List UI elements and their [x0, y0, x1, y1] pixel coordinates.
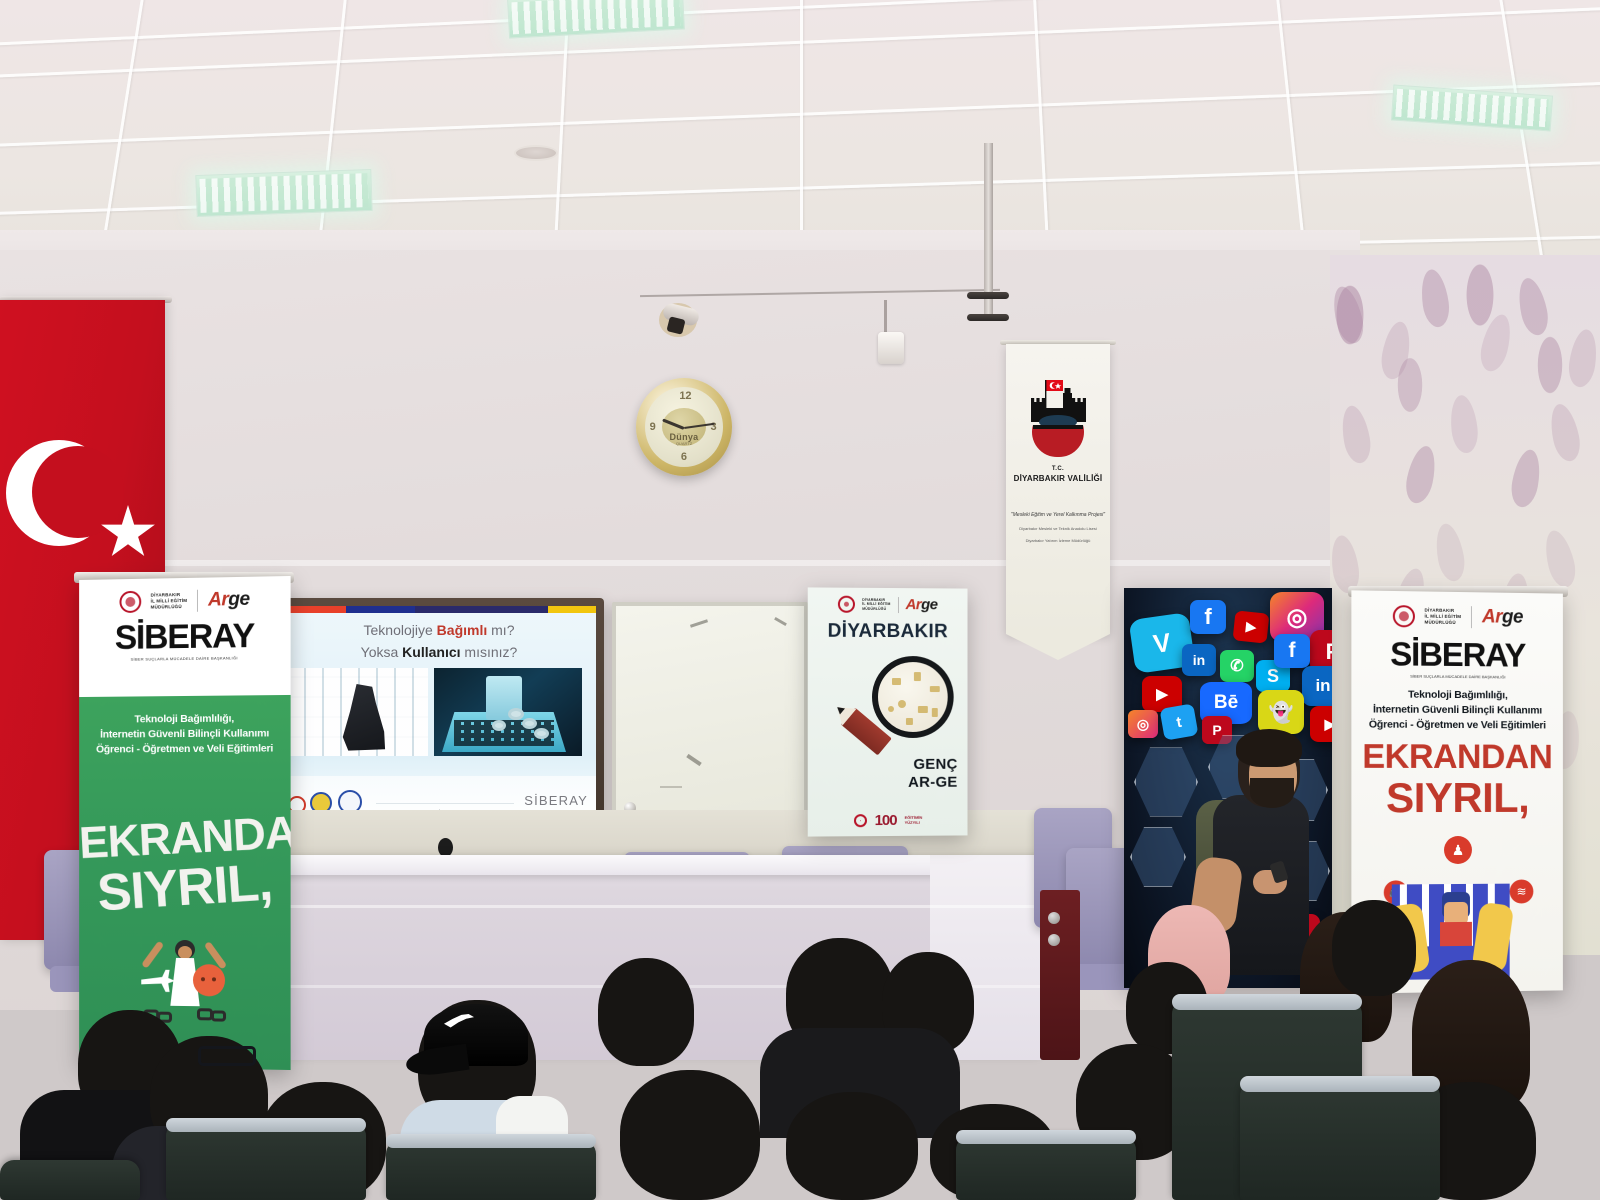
seat-back-6 [0, 1160, 140, 1200]
whatsapp-icon: ✆ [1220, 650, 1254, 682]
meb-seal-icon [838, 596, 855, 613]
pennant-line4: Diyarbakır Yatırım İzleme Müdürlüğü [1010, 538, 1106, 543]
wall-sensor-box [878, 332, 904, 364]
slide-headline-2: Yoksa Kullanıcı mısınız? [282, 644, 596, 660]
clock-numeral-12: 12 [679, 390, 691, 402]
youtube-icon-top: ▶ [1233, 610, 1270, 643]
wall-clock: 12 3 6 9 Dünya QUARTZ [636, 378, 732, 476]
clock-brand-sub: QUARTZ [645, 441, 723, 446]
governorship-pennant: T.C. DİYARBAKIR VALİLİĞİ "Mesleki Eğitim… [1006, 344, 1110, 634]
projector-mount-disc-upper [967, 292, 1009, 299]
linkedin-icon-2: in [1302, 666, 1332, 706]
pennant-title: DİYARBAKIR VALİLİĞİ [1006, 474, 1110, 483]
banner-mid-logo-row: DİYARBAKIR İL MİLLİ EĞİTİM MÜDÜRLÜĞÜ Arg… [808, 595, 968, 613]
seat-rim-2 [386, 1134, 596, 1148]
slide-headline-1: Teknolojiye Bağımlı mı? [282, 622, 596, 638]
meb-seal-icon [119, 591, 141, 613]
seat-back-5 [956, 1136, 1136, 1200]
pennant-motto: "Mesleki Eğitim ve Yerel Kalkınma Projes… [1010, 512, 1106, 518]
orange-blob-icon [193, 964, 225, 996]
facebook-icon: f [1190, 600, 1226, 634]
chain-link-3 [534, 728, 549, 739]
seat-back-2 [386, 1140, 596, 1200]
facebook-icon-2: f [1274, 634, 1310, 668]
footer-rule [376, 803, 514, 804]
meb-seal-icon-small [854, 814, 867, 827]
banner-right-brand-sub: SİBER SUÇLARLA MÜCADELE DAİRE BAŞKANLIĞI [1351, 673, 1562, 680]
twitter-icon: t [1159, 703, 1198, 740]
chain-link-1 [508, 708, 524, 720]
banner-mid-footer: 100 EĞİTİMİNYÜZYILI [808, 812, 968, 830]
person-badge-icon: ♟ [1444, 836, 1472, 864]
ceiling-lamp-2 [507, 0, 685, 39]
banner-mid-city: DİYARBAKIR [808, 621, 968, 644]
presenter-beard [1250, 778, 1294, 808]
centenary-text: EĞİTİMİNYÜZYILI [905, 815, 923, 825]
slide-accent-bar [282, 606, 596, 613]
seated-person-illustration [340, 684, 386, 752]
ceiling-speaker [514, 145, 558, 161]
magnifying-glass-icon [872, 656, 954, 738]
seat-back-4 [1240, 1082, 1440, 1200]
clock-numeral-6: 6 [681, 451, 687, 463]
presentation-slide: Teknolojiye Bağımlı mı? Yoksa Kullanıcı … [282, 606, 596, 820]
ministry-text: DİYARBAKIR İL MİLLİ EĞİTİM MÜDÜRLÜĞÜ [151, 592, 187, 611]
banner-right-headline-2: SIYRIL, [1351, 774, 1562, 822]
clock-brand: Dünya [645, 432, 723, 442]
slide-image-right [434, 668, 582, 756]
banner-right-brand: SİBERAY [1351, 635, 1562, 675]
projector-mount-disc-lower [967, 314, 1009, 321]
banner-right-logo-row: DİYARBAKIR İL MİLLİ EĞİTİM MÜDÜRLÜĞÜ Arg… [1351, 604, 1562, 629]
attendee-head-c2 [786, 1092, 918, 1200]
banner-left-logo-row: DİYARBAKIR İL MİLLİ EĞİTİM MÜDÜRLÜĞÜ Arg… [79, 588, 290, 614]
attendee-head-r1 [1332, 900, 1416, 996]
panel-desk-top [278, 855, 1042, 875]
arge-logo: Arge [1482, 606, 1523, 628]
projection-screen: Teknolojiye Bağımlı mı? Yoksa Kullanıcı … [274, 598, 604, 828]
chain-link-2 [522, 718, 537, 729]
whiteboard [612, 602, 808, 824]
banner-left-brand: SİBERAY [79, 616, 290, 658]
snapchat-icon: 👻 [1258, 690, 1304, 734]
banner-mid-subtitle: GENÇAR-GE [908, 756, 958, 791]
seat-rim-5 [956, 1130, 1136, 1144]
conference-room-photo: 12 3 6 9 Dünya QUARTZ [0, 0, 1600, 1200]
banner-right-description: Teknoloji Bağımlılığı, İnternetin Güvenl… [1355, 687, 1559, 734]
banner-diyarbakir-genc-arge: DİYARBAKIR İL MİLLİ EĞİTİM MÜDÜRLÜĞÜ Arg… [808, 587, 968, 836]
hex-photo-4 [1130, 826, 1186, 888]
slide-brand: SİBERAY [524, 793, 588, 808]
banner-right-headline-1: EKRANDAN [1351, 738, 1562, 778]
flag-crescent-cutout [32, 446, 124, 538]
hex-photo-1 [1134, 746, 1198, 818]
attendee-head-m1 [598, 958, 694, 1066]
wall-trim [0, 560, 1360, 566]
banner-left-description: Teknoloji Bağımlılığı, İnternetin Güvenl… [85, 711, 285, 758]
arge-logo: Arge [208, 589, 249, 612]
seat-rim-3 [1172, 994, 1362, 1010]
diyarbakir-castle-emblem-icon [1025, 378, 1091, 460]
attendee-glasses-icon [198, 1046, 256, 1066]
pennant-line3: Diyarbakır Mesleki ve Teknik Anadolu Lis… [1010, 526, 1106, 531]
paper-plane-icon [141, 970, 175, 994]
pennant-tc-label: T.C. [1006, 466, 1110, 472]
seat-rim-4 [1240, 1076, 1440, 1092]
clock-face: 12 3 6 9 Dünya QUARTZ [645, 387, 723, 467]
equipment-cabinet [1040, 890, 1080, 1060]
centenary-number: 100 [875, 812, 897, 829]
attendee-head-c1 [620, 1070, 760, 1200]
chain-link-4 [492, 720, 506, 731]
banner-siberay-green: DİYARBAKIR İL MİLLİ EĞİTİM MÜDÜRLÜĞÜ Arg… [79, 576, 290, 1070]
meb-seal-icon [1392, 605, 1414, 627]
sensor-wire [884, 300, 887, 334]
ceiling-lamp-1 [195, 169, 372, 217]
ceiling-lamp-4 [1391, 84, 1553, 131]
slide-image-left [288, 668, 428, 756]
seat-rim-1 [166, 1118, 366, 1132]
youtube-icon-3: ▶ [1310, 706, 1332, 742]
arge-logo: Arge [906, 596, 938, 613]
linkedin-icon-1: in [1182, 644, 1216, 676]
seat-back-1 [166, 1122, 366, 1200]
clock-numeral-9: 9 [650, 421, 656, 433]
instagram-icon-2: ◎ [1128, 710, 1158, 738]
presenter-hair [1236, 729, 1302, 767]
